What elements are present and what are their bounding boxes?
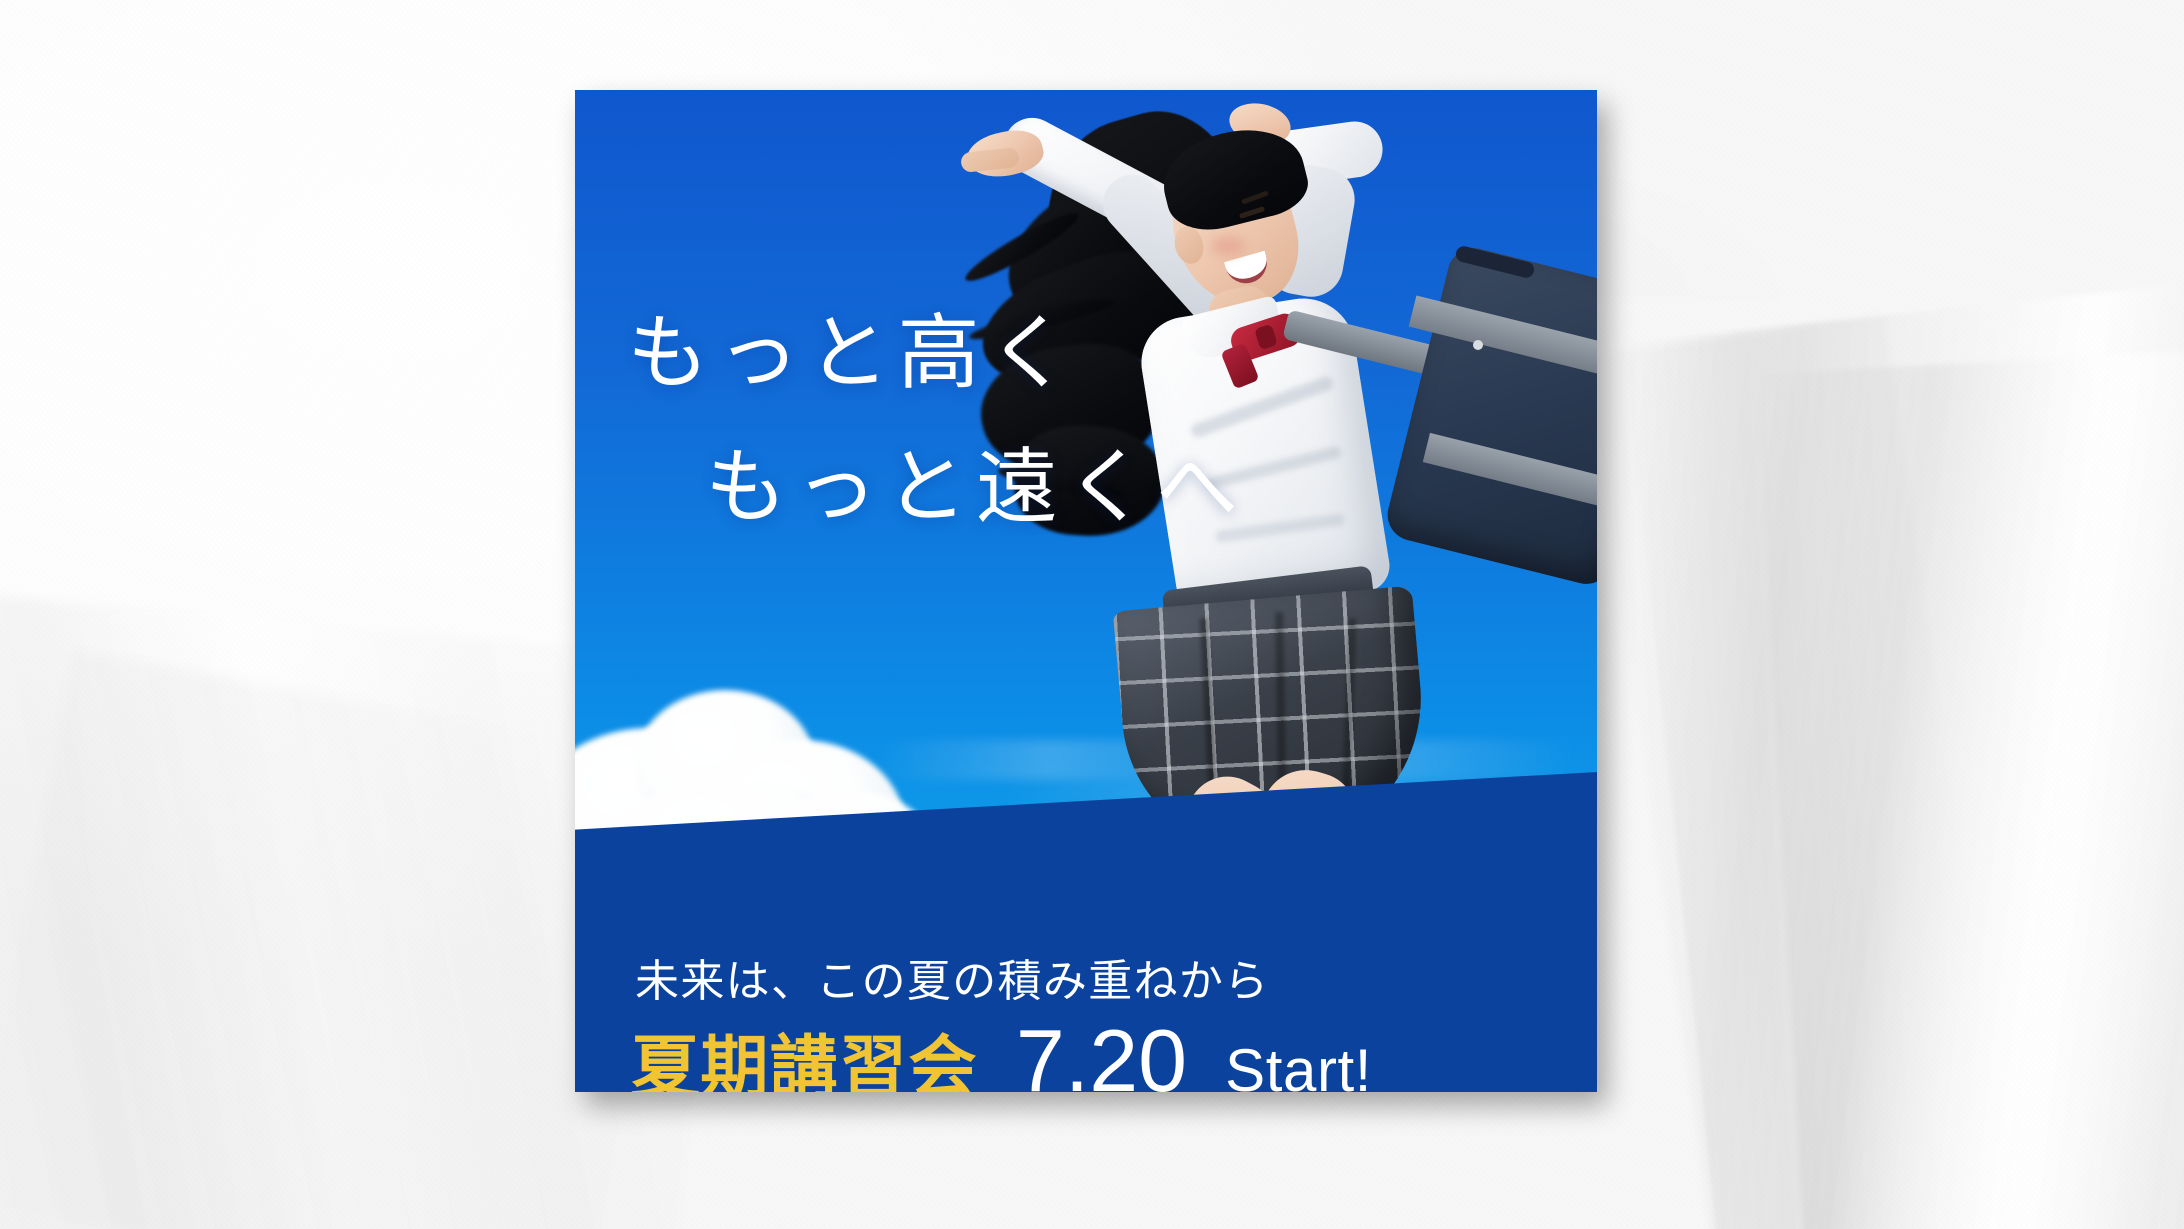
backpack-rivet bbox=[1473, 340, 1483, 350]
course-name: 夏期講習会 bbox=[631, 1012, 978, 1092]
start-date: 7.20 bbox=[1016, 1010, 1187, 1092]
summer-course-poster: もっと高く もっと遠くへ 未来は、この夏の積み重ねから 夏期講習会 7.20 S… bbox=[575, 90, 1597, 1092]
start-label: Start! bbox=[1225, 1036, 1372, 1092]
screenshot-canvas: もっと高く もっと遠くへ 未来は、この夏の積み重ねから 夏期講習会 7.20 S… bbox=[0, 0, 2184, 1229]
backpack bbox=[1382, 243, 1597, 590]
banner-bottom-row: 夏期講習会 7.20 Start! bbox=[631, 1010, 1372, 1092]
headline-line-1: もっと高く bbox=[627, 286, 1078, 405]
cheek-blush bbox=[1211, 236, 1245, 256]
headline-line-2: もっと遠くへ bbox=[705, 420, 1246, 539]
banner-tagline: 未来は、この夏の積み重ねから bbox=[635, 945, 1269, 1009]
